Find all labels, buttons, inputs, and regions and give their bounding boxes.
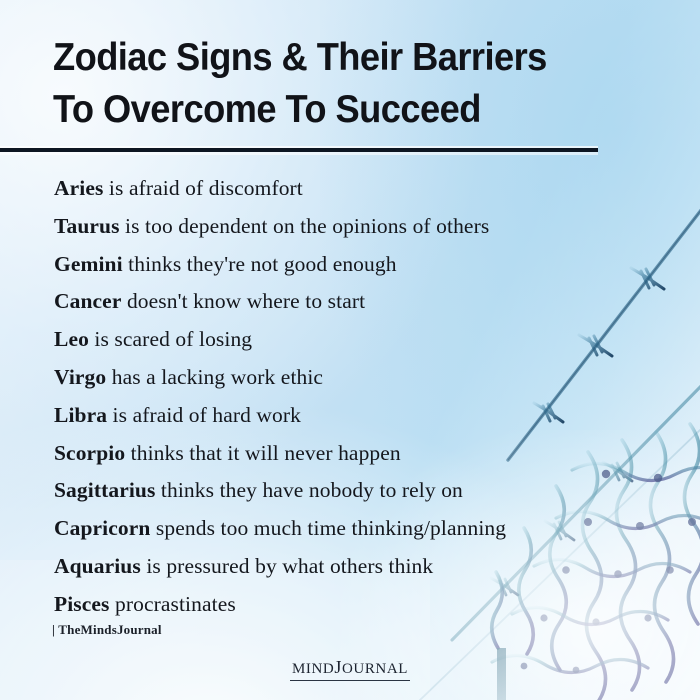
zodiac-sign-name: Scorpio <box>54 441 125 465</box>
zodiac-barrier-text: procrastinates <box>110 592 236 616</box>
zodiac-sign-name: Sagittarius <box>54 478 155 502</box>
source-credit: | TheMindsJournal <box>52 622 162 638</box>
zodiac-sign-name: Gemini <box>54 252 123 276</box>
zodiac-barrier-text: is afraid of discomfort <box>103 176 302 200</box>
brand-logo-journal-initial: J <box>334 650 342 679</box>
brand-logo-journal-rest: ournal <box>342 654 408 678</box>
list-item: Aquarius is pressured by what others thi… <box>54 548 674 586</box>
list-item: Aries is afraid of discomfort <box>54 170 674 208</box>
brand-logo: mindJournal <box>0 652 700 681</box>
list-item: Taurus is too dependent on the opinions … <box>54 208 674 246</box>
brand-logo-mind: mind <box>292 654 334 678</box>
zodiac-barrier-text: spends too much time thinking/planning <box>150 516 506 540</box>
list-item: Gemini thinks they're not good enough <box>54 246 674 284</box>
brand-logo-journal: Journal <box>334 654 408 678</box>
zodiac-sign-name: Libra <box>54 403 107 427</box>
zodiac-sign-name: Taurus <box>54 214 120 238</box>
zodiac-barrier-text: is pressured by what others think <box>141 554 433 578</box>
list-item: Leo is scared of losing <box>54 321 674 359</box>
zodiac-barrier-text: is too dependent on the opinions of othe… <box>120 214 490 238</box>
zodiac-barrier-text: is afraid of hard work <box>107 403 301 427</box>
zodiac-barrier-text: doesn't know where to start <box>121 289 365 313</box>
list-item: Scorpio thinks that it will never happen <box>54 435 674 473</box>
list-item: Libra is afraid of hard work <box>54 397 674 435</box>
zodiac-sign-name: Pisces <box>54 592 110 616</box>
poster-canvas: Zodiac Signs & Their Barriers To Overcom… <box>0 0 700 700</box>
brand-logo-inner: mindJournal <box>290 652 410 681</box>
list-item: Cancer doesn't know where to start <box>54 283 674 321</box>
zodiac-barrier-text: has a lacking work ethic <box>106 365 323 389</box>
zodiac-barrier-text: thinks they're not good enough <box>123 252 397 276</box>
title-line-1: Zodiac Signs & Their Barriers <box>53 32 611 84</box>
zodiac-barrier-text: thinks they have nobody to rely on <box>155 478 462 502</box>
title-line-2: To Overcome To Succeed <box>53 84 611 136</box>
list-item: Pisces procrastinates <box>54 586 674 624</box>
list-item: Sagittarius thinks they have nobody to r… <box>54 472 674 510</box>
zodiac-barrier-text: is scared of losing <box>89 327 252 351</box>
list-item: Virgo has a lacking work ethic <box>54 359 674 397</box>
zodiac-barrier-text: thinks that it will never happen <box>125 441 401 465</box>
page-title: Zodiac Signs & Their Barriers To Overcom… <box>53 32 653 136</box>
zodiac-sign-name: Capricorn <box>54 516 150 540</box>
zodiac-sign-name: Cancer <box>54 289 121 313</box>
zodiac-sign-name: Aquarius <box>54 554 141 578</box>
list-item: Capricorn spends too much time thinking/… <box>54 510 674 548</box>
zodiac-sign-name: Virgo <box>54 365 106 389</box>
zodiac-sign-name: Leo <box>54 327 89 351</box>
zodiac-sign-name: Aries <box>54 176 103 200</box>
zodiac-list: Aries is afraid of discomfort Taurus is … <box>54 170 674 624</box>
title-divider-rule <box>0 148 598 152</box>
